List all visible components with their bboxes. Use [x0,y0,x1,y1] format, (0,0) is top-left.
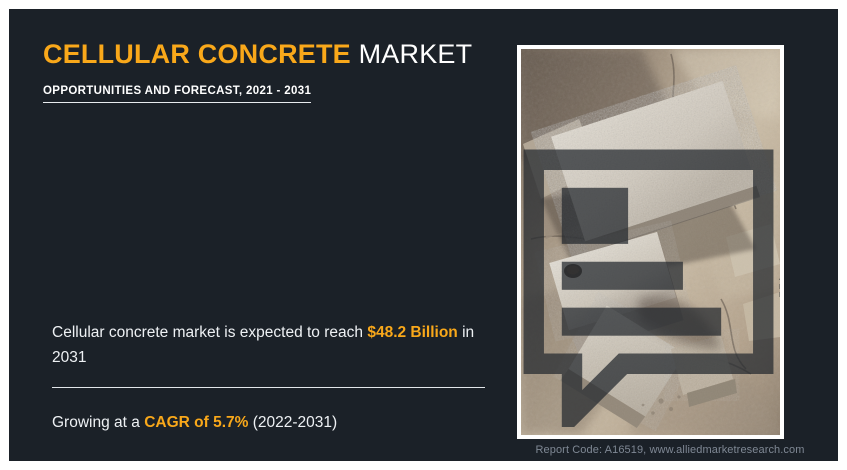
left-content-column: CELLULAR CONCRETE MARKET OPPORTUNITIES A… [43,40,503,440]
cagr-value: CAGR of 5.7% [144,414,248,431]
page-title-suffix: MARKET [351,39,472,69]
content-divider [52,387,485,388]
report-code-footer: Report Code: A16519, www.alliedmarketres… [500,444,838,456]
market-size-statement: Cellular concrete market is expected to … [52,320,494,370]
cagr-prefix: Growing at a [52,414,144,431]
page-title-keyword: CELLULAR CONCRETE [43,39,351,69]
watermark-line-3: Research [779,291,780,299]
subtitle-block: OPPORTUNITIES AND FORECAST, 2021 - 2031 [43,85,311,103]
page-title: CELLULAR CONCRETE MARKET [43,40,503,70]
speech-bubble-logo-icon [521,147,776,428]
stat-line: Cellular concrete market is expected to … [52,320,494,370]
cagr-statement: Growing at a CAGR of 5.7% (2022-2031) [52,411,494,436]
cagr-suffix: (2022-2031) [248,414,337,431]
cellular-concrete-blocks-photo: Allied Market Research [521,49,780,435]
stat-prefix: Cellular concrete market is expected to … [52,324,367,341]
watermark-text: Allied Market Research [779,274,780,299]
subtitle-underline [43,102,311,103]
dark-card: CELLULAR CONCRETE MARKET OPPORTUNITIES A… [9,9,838,461]
stat-value: $48.2 Billion [367,324,457,341]
subtitle: OPPORTUNITIES AND FORECAST, 2021 - 2031 [43,85,311,102]
report-banner: CELLULAR CONCRETE MARKET OPPORTUNITIES A… [0,0,847,470]
allied-market-research-watermark: Allied Market Research [521,147,776,428]
photo-frame: Allied Market Research [517,45,784,439]
